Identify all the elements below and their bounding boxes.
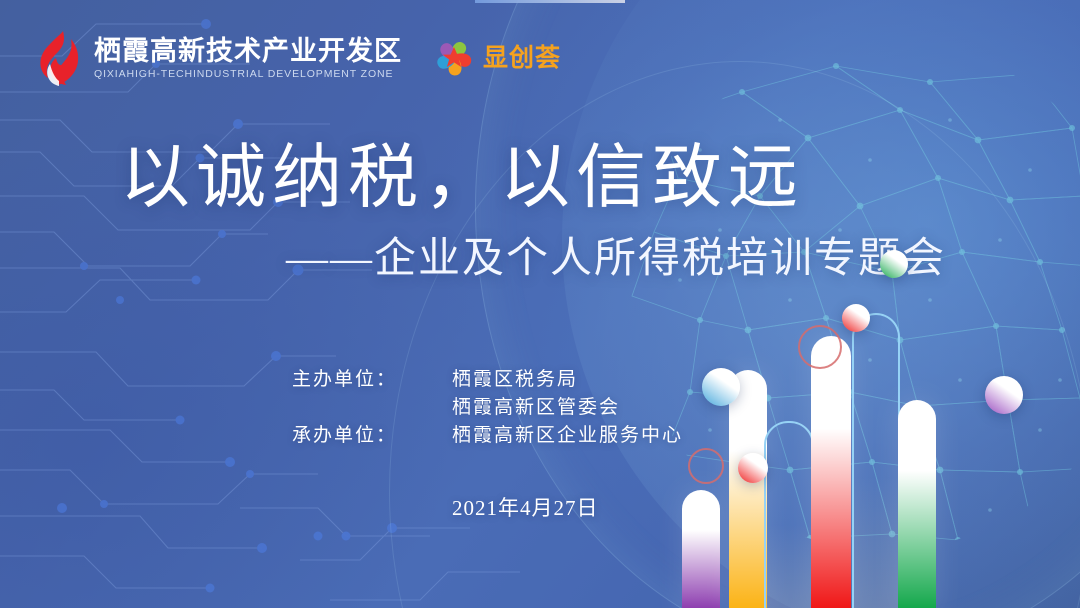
organizer-row: 承办单位： 栖霞高新区企业服务中心 (292, 422, 683, 450)
primary-logo-en-name: QIXIAHIGH-TECHINDUSTRIAL DEVELOPMENT ZON… (94, 68, 402, 82)
sphere-red-sm (738, 453, 768, 483)
ring-small (688, 448, 724, 484)
organizer-value: 栖霞高新区管委会 (452, 394, 620, 422)
decorative-bar-chart (680, 248, 1080, 608)
flame-logo-icon (36, 30, 82, 88)
bar-red (811, 336, 851, 608)
page-subtitle: ——企业及个人所得税培训专题会 (286, 236, 946, 282)
organizer-label: 主办单位： (292, 366, 452, 394)
ring-large (798, 325, 842, 369)
star-burst-logo-icon (432, 36, 476, 80)
sphere-red-up (842, 304, 870, 332)
primary-logo-cn-name: 栖霞高新技术产业开发区 (94, 36, 402, 66)
sphere-purple (985, 376, 1023, 414)
top-edge-strip (475, 0, 625, 3)
event-date: 2021年4月27日 (452, 492, 599, 522)
organizer-value: 栖霞高新区企业服务中心 (452, 422, 683, 450)
presentation-slide: 栖霞高新技术产业开发区 QIXIAHIGH-TECHINDUSTRIAL DEV… (0, 0, 1080, 608)
bar-green (898, 400, 936, 608)
secondary-logo-name: 显创荟 (483, 46, 561, 71)
bar-outline-2 (852, 313, 900, 608)
organizer-block: 主办单位： 栖霞区税务局 栖霞高新区管委会 承办单位： 栖霞高新区企业服务中心 (292, 366, 683, 450)
bar-yellow (729, 370, 767, 608)
secondary-logo: 显创荟 (432, 36, 561, 80)
sphere-blue (702, 368, 740, 406)
bar-outline-1 (764, 421, 814, 608)
primary-logo: 栖霞高新技术产业开发区 QIXIAHIGH-TECHINDUSTRIAL DEV… (36, 30, 402, 88)
slide-header: 栖霞高新技术产业开发区 QIXIAHIGH-TECHINDUSTRIAL DEV… (0, 30, 1080, 96)
bar-purple (682, 490, 720, 608)
organizer-label: 承办单位： (292, 422, 452, 450)
page-title: 以诚纳税，以信致远 (120, 142, 804, 216)
organizer-row: 主办单位： 栖霞区税务局 (292, 366, 683, 394)
organizer-row: 栖霞高新区管委会 (292, 394, 683, 422)
organizer-value: 栖霞区税务局 (452, 366, 578, 394)
